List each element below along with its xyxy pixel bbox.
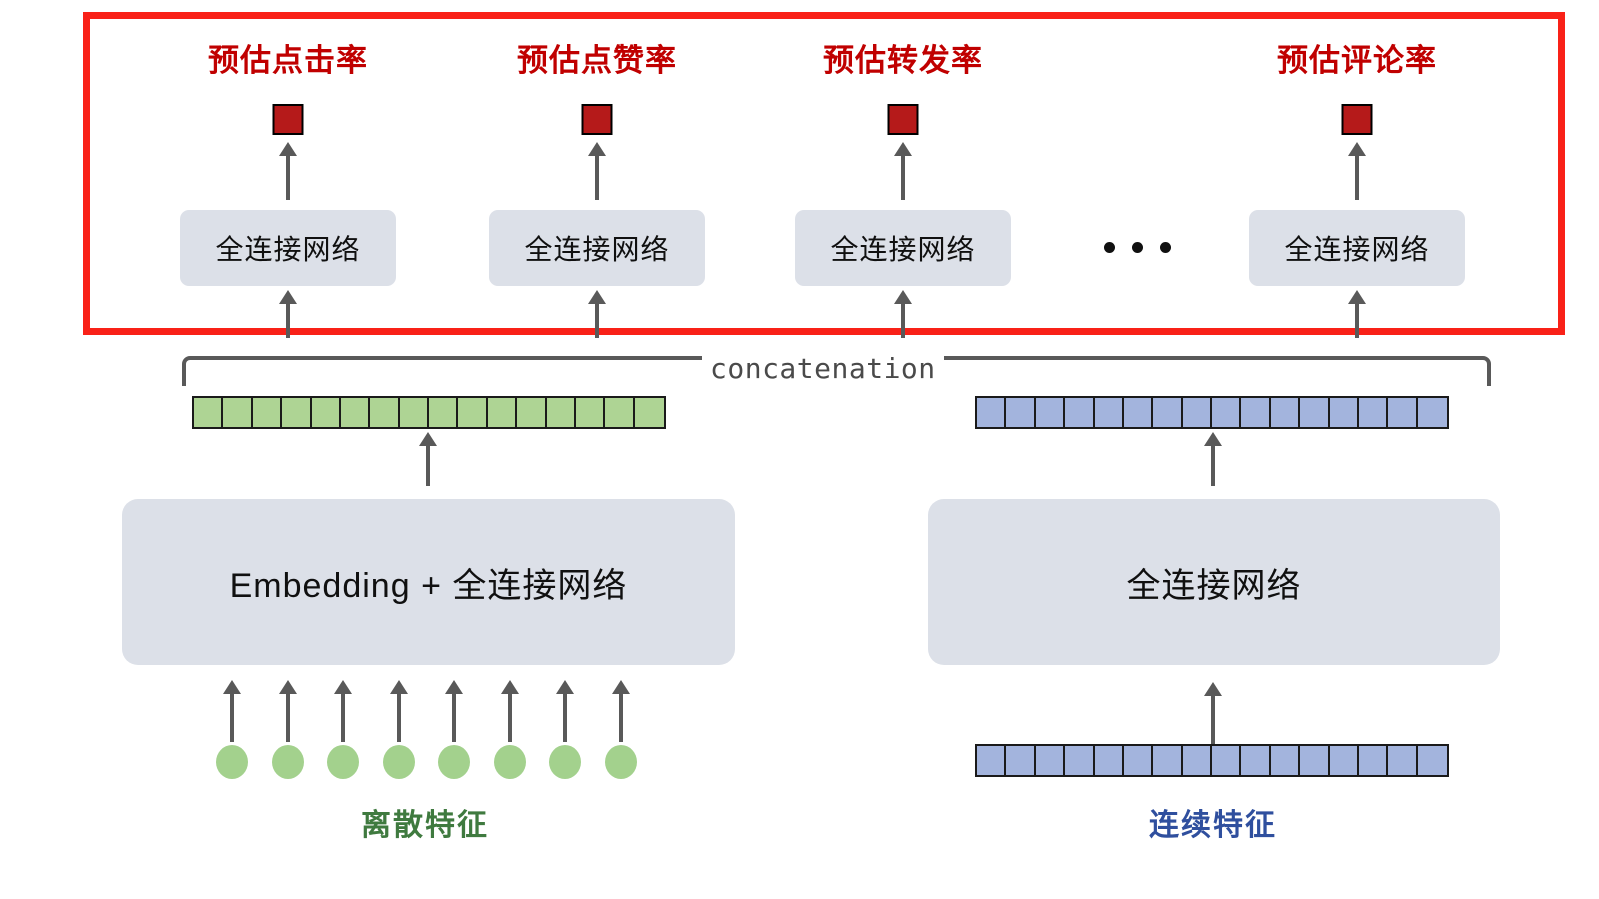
vector-cell [1330, 398, 1359, 427]
vector-cell [1006, 398, 1035, 427]
vector-cell [1418, 746, 1447, 775]
discrete-feature-circle [383, 745, 415, 779]
vector-cell [253, 398, 282, 427]
vector-cell [1212, 746, 1241, 775]
prediction-output-square-2 [582, 104, 613, 135]
vector-cell [1153, 746, 1182, 775]
task-tower-4: 预估评论率 全连接网络 [1249, 0, 1465, 340]
task-title-4: 预估评论率 [1249, 42, 1465, 80]
vector-cell [1183, 398, 1212, 427]
vector-cell [1153, 398, 1182, 427]
vector-cell [1359, 746, 1388, 775]
vector-cell [1183, 746, 1212, 775]
vector-cell [1095, 398, 1124, 427]
vector-cell [1124, 398, 1153, 427]
task-title-2: 预估点赞率 [489, 42, 705, 80]
vector-cell [458, 398, 487, 427]
prediction-output-square-3 [888, 104, 919, 135]
fc-block-2: 全连接网络 [489, 210, 705, 286]
discrete-feature-circle [216, 745, 248, 779]
vector-cell [1271, 746, 1300, 775]
vector-cell [977, 746, 1006, 775]
ellipsis-icon [1104, 242, 1171, 253]
vector-cell [1124, 746, 1153, 775]
vector-cell [635, 398, 664, 427]
vector-cell [977, 398, 1006, 427]
vector-cell [429, 398, 458, 427]
vector-cell [1359, 398, 1388, 427]
discrete-feature-block: Embedding + 全连接网络 [122, 499, 735, 665]
discrete-feature-circle [272, 745, 304, 779]
vector-cell [223, 398, 252, 427]
prediction-output-square-1 [273, 104, 304, 135]
vector-cell [1418, 398, 1447, 427]
vector-cell [1006, 746, 1035, 775]
task-tower-3: 预估转发率 全连接网络 [795, 0, 1011, 340]
vector-cell [1241, 746, 1270, 775]
vector-cell [1036, 398, 1065, 427]
diagram-canvas: 预估点击率 全连接网络 预估点赞率 全连接网络 预估转发率 全连接网络 [0, 0, 1599, 899]
discrete-feature-caption: 离散特征 [361, 800, 489, 844]
vector-cell [1388, 398, 1417, 427]
vector-cell [1065, 746, 1094, 775]
fc-block-4: 全连接网络 [1249, 210, 1465, 286]
vector-cell [1300, 398, 1329, 427]
vector-cell [605, 398, 634, 427]
vector-cell [312, 398, 341, 427]
vector-cell [341, 398, 370, 427]
vector-cell [517, 398, 546, 427]
task-title-1: 预估点击率 [180, 42, 396, 80]
task-title-3: 预估转发率 [795, 42, 1011, 80]
vector-cell [547, 398, 576, 427]
fc-block-3: 全连接网络 [795, 210, 1011, 286]
vector-cell [282, 398, 311, 427]
vector-cell [1330, 746, 1359, 775]
vector-cell [1036, 746, 1065, 775]
task-tower-2: 预估点赞率 全连接网络 [489, 0, 705, 340]
fc-block-1: 全连接网络 [180, 210, 396, 286]
continuous-input-vector [975, 744, 1449, 777]
vector-cell [1271, 398, 1300, 427]
vector-cell [194, 398, 223, 427]
vector-cell [1388, 746, 1417, 775]
vector-cell [400, 398, 429, 427]
discrete-embedding-vector [192, 396, 666, 429]
continuous-hidden-vector [975, 396, 1449, 429]
concatenation-label: concatenation [702, 352, 944, 385]
continuous-feature-caption: 连续特征 [1149, 800, 1277, 844]
continuous-feature-block: 全连接网络 [928, 499, 1500, 665]
discrete-feature-circle [605, 745, 637, 779]
discrete-feature-circle [494, 745, 526, 779]
task-tower-1: 预估点击率 全连接网络 [180, 0, 396, 340]
vector-cell [1212, 398, 1241, 427]
prediction-output-square-4 [1342, 104, 1373, 135]
discrete-feature-circle [327, 745, 359, 779]
discrete-feature-circle [549, 745, 581, 779]
vector-cell [1241, 398, 1270, 427]
vector-cell [1065, 398, 1094, 427]
vector-cell [370, 398, 399, 427]
vector-cell [1300, 746, 1329, 775]
vector-cell [576, 398, 605, 427]
discrete-feature-circle [438, 745, 470, 779]
vector-cell [1095, 746, 1124, 775]
vector-cell [488, 398, 517, 427]
